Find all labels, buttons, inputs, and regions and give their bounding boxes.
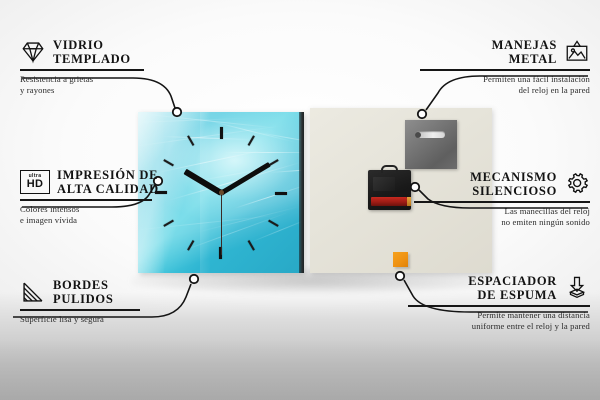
callout-title: MECANISMO SILENCIOSO xyxy=(414,170,557,198)
callout-title: IMPRESIÓN DE ALTA CALIDAD xyxy=(57,168,159,196)
callout-head: ESPACIADOR DE ESPUMA xyxy=(408,274,590,302)
battery xyxy=(371,197,407,206)
callout-bordes-pulidos[interactable]: BORDES PULIDOS Superficie lisa y segura xyxy=(20,278,170,325)
callout-espaciador-espuma[interactable]: ESPACIADOR DE ESPUMA Permite mantener un… xyxy=(408,274,590,332)
picture-hanger-icon xyxy=(564,39,590,65)
callout-rule xyxy=(408,305,590,307)
clock-mechanism[interactable] xyxy=(368,170,411,210)
battery-terminal xyxy=(407,197,411,206)
callout-title: ESPACIADOR DE ESPUMA xyxy=(408,274,557,302)
gear-icon xyxy=(564,171,590,197)
callout-title: BORDES PULIDOS xyxy=(53,278,113,306)
callout-mecanismo-silencioso[interactable]: MECANISMO SILENCIOSO Las manecillas del … xyxy=(414,170,590,228)
callout-subtitle: Resistencia a grietas y rayones xyxy=(20,74,170,96)
mechanism-detail xyxy=(373,177,395,191)
callout-impresion-alta-calidad[interactable]: ultra HD IMPRESIÓN DE ALTA CALIDAD Color… xyxy=(20,168,190,226)
callout-subtitle: Permiten una fácil instalación del reloj… xyxy=(420,74,590,96)
callout-head: MECANISMO SILENCIOSO xyxy=(414,170,590,198)
callout-rule xyxy=(20,199,152,201)
callout-subtitle: Permite mantener una distancia uniforme … xyxy=(408,310,590,332)
callout-title: VIDRIO TEMPLADO xyxy=(53,38,131,66)
hanger-plate[interactable] xyxy=(405,120,457,169)
callout-head: BORDES PULIDOS xyxy=(20,278,170,306)
callout-subtitle: Colores intensos e imagen vívida xyxy=(20,204,190,226)
ultra-hd-badge: ultra HD xyxy=(20,170,50,194)
diamond-icon xyxy=(20,39,46,65)
ultra-hd-main-label: HD xyxy=(27,179,44,190)
clock-center-hub xyxy=(219,190,224,195)
clock-tick xyxy=(220,127,222,193)
callout-rule xyxy=(20,69,144,71)
polished-edges-icon xyxy=(20,279,46,305)
product-infographic: VIDRIO TEMPLADO Resistencia a grietas y … xyxy=(0,0,600,400)
clock-edge xyxy=(299,112,304,273)
feather-stroke xyxy=(250,216,304,243)
callout-rule xyxy=(414,201,590,203)
callout-rule xyxy=(20,309,140,311)
callout-head: ultra HD IMPRESIÓN DE ALTA CALIDAD xyxy=(20,168,190,196)
callout-head: VIDRIO TEMPLADO xyxy=(20,38,170,66)
callout-manejas-metal[interactable]: MANEJAS METAL Permiten una fácil instala… xyxy=(420,38,590,96)
clock-tick xyxy=(221,192,287,194)
hanger-hole xyxy=(415,132,421,138)
callout-subtitle: Superficie lisa y segura xyxy=(20,314,170,325)
callout-vidrio-templado[interactable]: VIDRIO TEMPLADO Resistencia a grietas y … xyxy=(20,38,170,96)
clock-second-hand xyxy=(221,193,222,255)
mechanism-hanging-loop xyxy=(381,165,398,173)
foam-spacer-icon xyxy=(564,275,590,301)
ultra-hd-icon: ultra HD xyxy=(20,170,50,194)
feather-stroke xyxy=(224,152,304,153)
foam-spacer[interactable] xyxy=(393,252,408,267)
callout-subtitle: Las manecillas del reloj no emiten ningú… xyxy=(414,206,590,228)
callout-head: MANEJAS METAL xyxy=(420,38,590,66)
callout-rule xyxy=(420,69,590,71)
callout-title: MANEJAS METAL xyxy=(420,38,557,66)
